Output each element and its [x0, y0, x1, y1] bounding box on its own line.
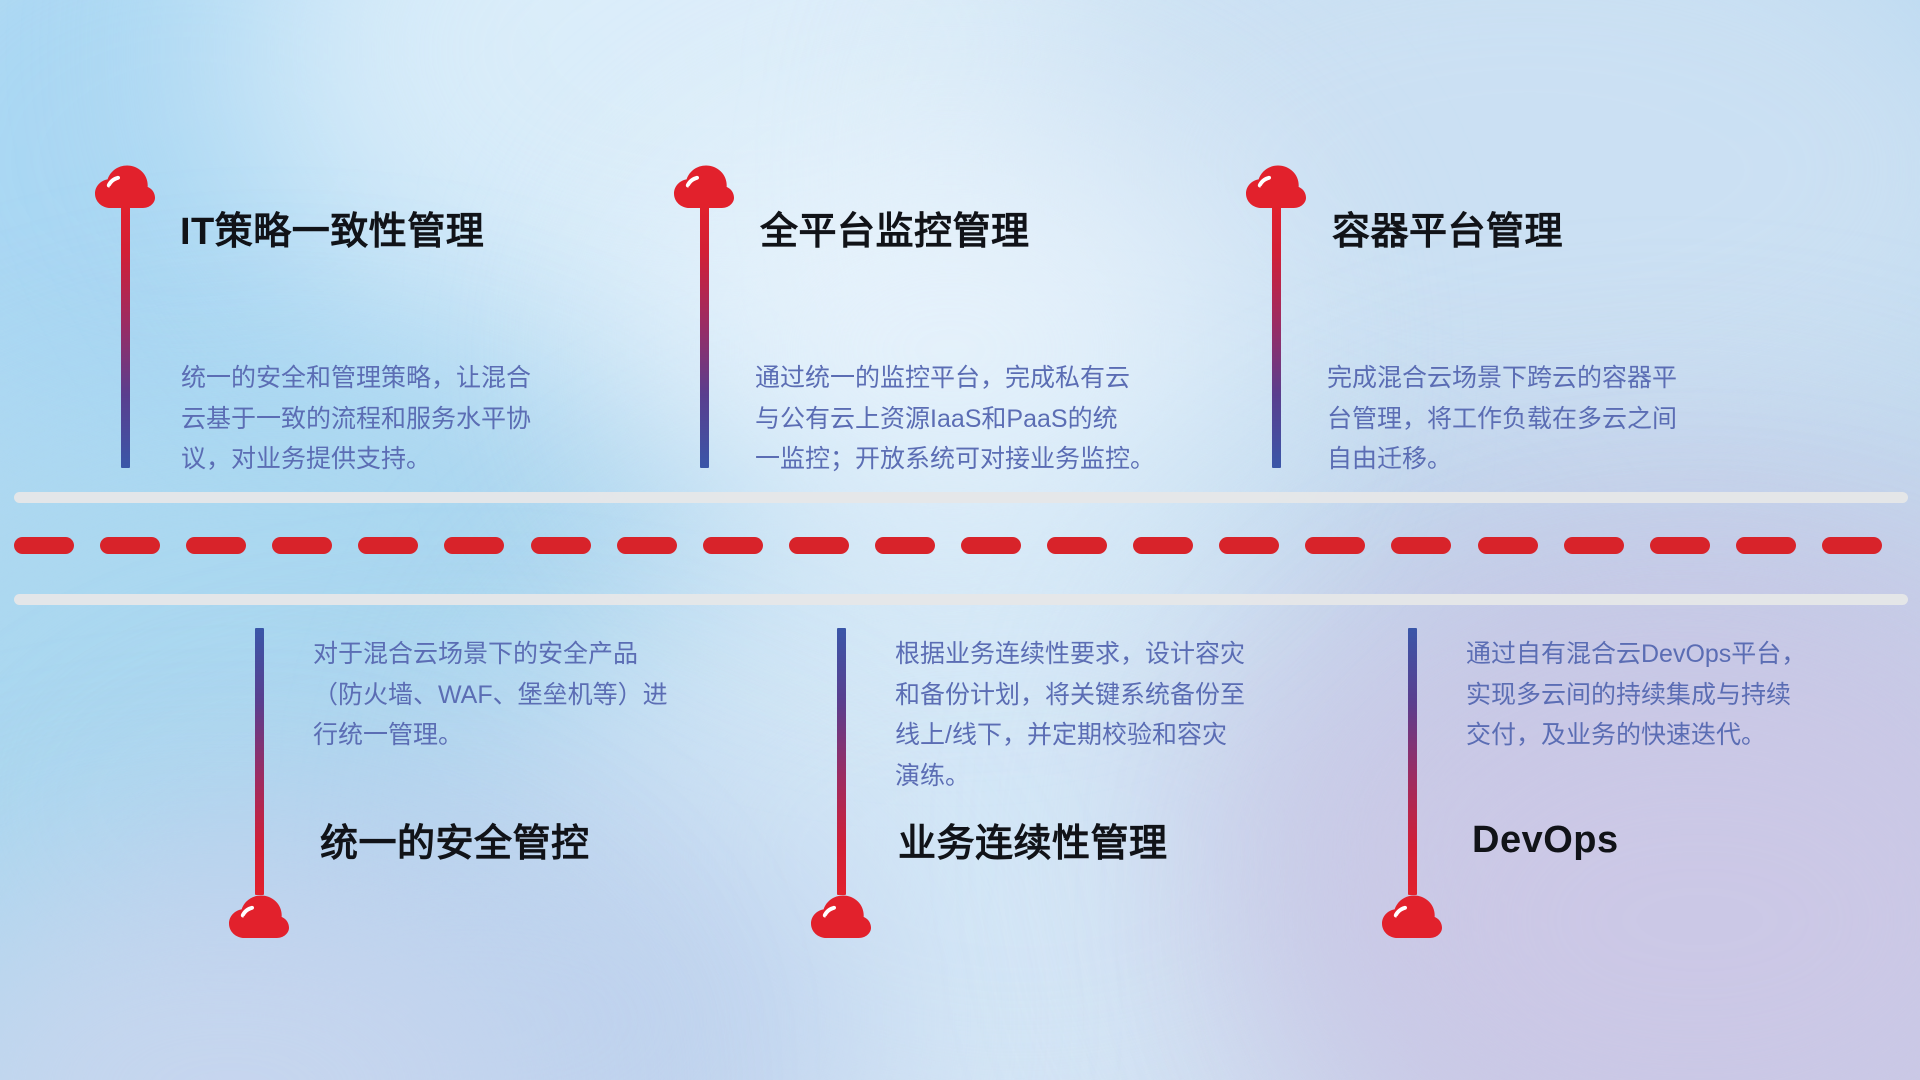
- road-dash: [531, 537, 591, 554]
- road-dash: [1736, 537, 1796, 554]
- road-dash: [14, 537, 74, 554]
- road-divider: [0, 487, 1920, 612]
- road-dash: [1564, 537, 1624, 554]
- card-title: DevOps: [1472, 820, 1619, 862]
- card-description: 根据业务连续性要求，设计容灾 和备份计划，将关键系统备份至 线上/线下，并定期校…: [895, 634, 1335, 796]
- card-title: 统一的安全管控: [320, 824, 590, 866]
- road-dash: [1478, 537, 1538, 554]
- connector-stem: [1408, 628, 1417, 895]
- cloud-icon: [228, 893, 290, 939]
- connector-stem: [700, 205, 709, 468]
- road-dash: [100, 537, 160, 554]
- road-dash: [875, 537, 935, 554]
- road-dash: [444, 537, 504, 554]
- cloud-icon: [1381, 893, 1443, 939]
- cloud-icon: [673, 163, 735, 209]
- road-edge-bottom: [14, 594, 1908, 605]
- connector-stem: [1272, 205, 1281, 468]
- road-dash: [703, 537, 763, 554]
- card-title: 全平台监控管理: [760, 212, 1030, 254]
- road-dash: [1305, 537, 1365, 554]
- cloud-icon: [94, 163, 156, 209]
- card-title: 容器平台管理: [1332, 212, 1563, 254]
- road-dash: [186, 537, 246, 554]
- road-dash: [789, 537, 849, 554]
- road-dash: [272, 537, 332, 554]
- road-dash: [1650, 537, 1710, 554]
- road-dash: [1133, 537, 1193, 554]
- road-dash: [1391, 537, 1451, 554]
- card-description: 统一的安全和管理策略，让混合 云基于一致的流程和服务水平协 议，对业务提供支持。: [181, 358, 611, 480]
- road-edge-top: [14, 492, 1908, 503]
- road-dash: [1219, 537, 1279, 554]
- road-dash-line: [14, 537, 1908, 554]
- infographic-canvas: IT策略一致性管理 统一的安全和管理策略，让混合 云基于一致的流程和服务水平协 …: [0, 0, 1920, 1080]
- connector-stem: [121, 205, 130, 468]
- card-title: 业务连续性管理: [898, 824, 1168, 866]
- road-dash: [617, 537, 677, 554]
- card-title: IT策略一致性管理: [180, 212, 484, 254]
- connector-stem: [837, 628, 846, 895]
- road-dash: [1047, 537, 1107, 554]
- cloud-icon: [1245, 163, 1307, 209]
- card-description: 完成混合云场景下跨云的容器平 台管理，将工作负载在多云之间 自由迁移。: [1327, 358, 1777, 480]
- road-dash: [1822, 537, 1882, 554]
- card-description: 通过自有混合云DevOps平台， 实现多云间的持续集成与持续 交付，及业务的快速…: [1466, 634, 1906, 756]
- card-description: 对于混合云场景下的安全产品 （防火墙、WAF、堡垒机等）进 行统一管理。: [313, 634, 743, 756]
- road-dash: [961, 537, 1021, 554]
- road-dash: [358, 537, 418, 554]
- connector-stem: [255, 628, 264, 895]
- cloud-icon: [810, 893, 872, 939]
- card-description: 通过统一的监控平台，完成私有云 与公有云上资源IaaS和PaaS的统 一监控；开…: [755, 358, 1205, 480]
